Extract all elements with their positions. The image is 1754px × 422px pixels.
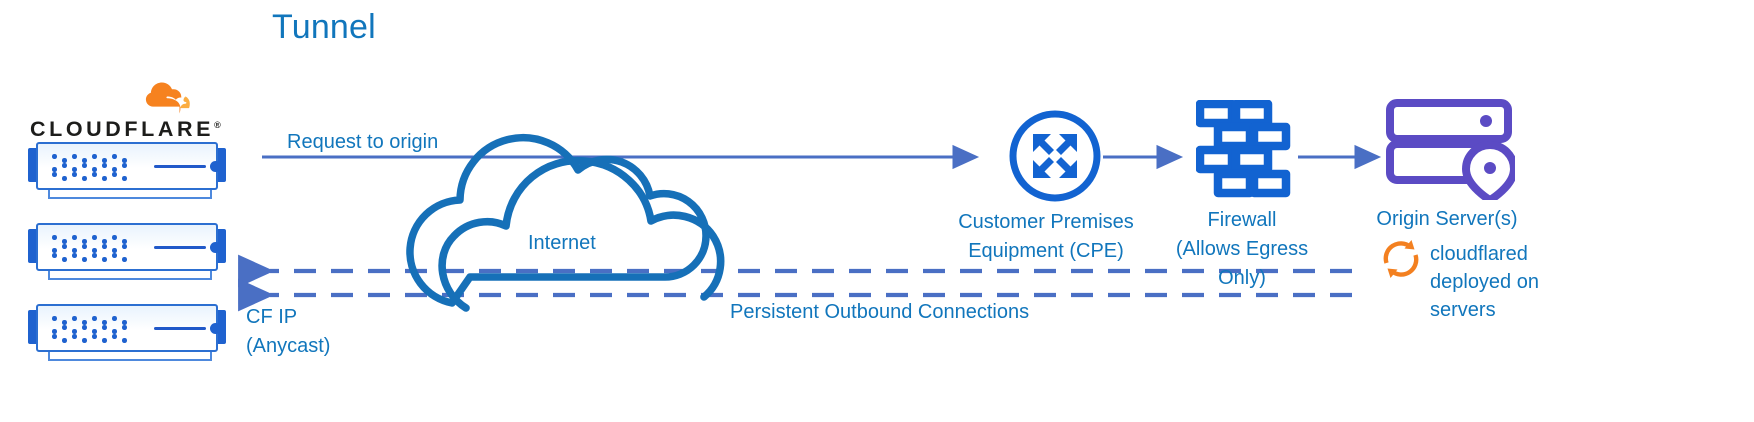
- server-rack-location-icon: [1385, 98, 1515, 200]
- cpe-label-line2: Equipment (CPE): [936, 237, 1156, 266]
- origin-server-label: Origin Server(s): [1352, 208, 1542, 231]
- cloudflared-label-line1: cloudflared: [1430, 240, 1550, 268]
- firewall-label: Firewall (Allows Egress Only): [1155, 206, 1329, 293]
- cloudflared-label: cloudflared deployed on servers: [1430, 240, 1550, 324]
- persistent-outbound-label: Persistent Outbound Connections: [730, 301, 1029, 324]
- tunnel-diagram: Tunnel CLOUDFLARE®: [0, 0, 1754, 422]
- location-pin-icon: [1466, 145, 1514, 200]
- request-to-origin-label: Request to origin: [287, 131, 438, 154]
- cpe-label-line1: Customer Premises: [936, 208, 1156, 237]
- brick-wall-icon: [1196, 100, 1296, 198]
- cloudflared-label-line2: deployed on: [1430, 268, 1550, 296]
- cpe-label: Customer Premises Equipment (CPE): [936, 208, 1156, 266]
- internet-label: Internet: [528, 232, 596, 255]
- internet-cloud-shape: [438, 140, 728, 315]
- firewall-label-line2: (Allows Egress Only): [1155, 235, 1329, 293]
- router-converge-arrows-icon: [1007, 108, 1103, 204]
- firewall-label-line1: Firewall: [1155, 206, 1329, 235]
- cloudflared-label-line3: servers: [1430, 296, 1550, 324]
- sync-arrows-icon: [1378, 236, 1424, 282]
